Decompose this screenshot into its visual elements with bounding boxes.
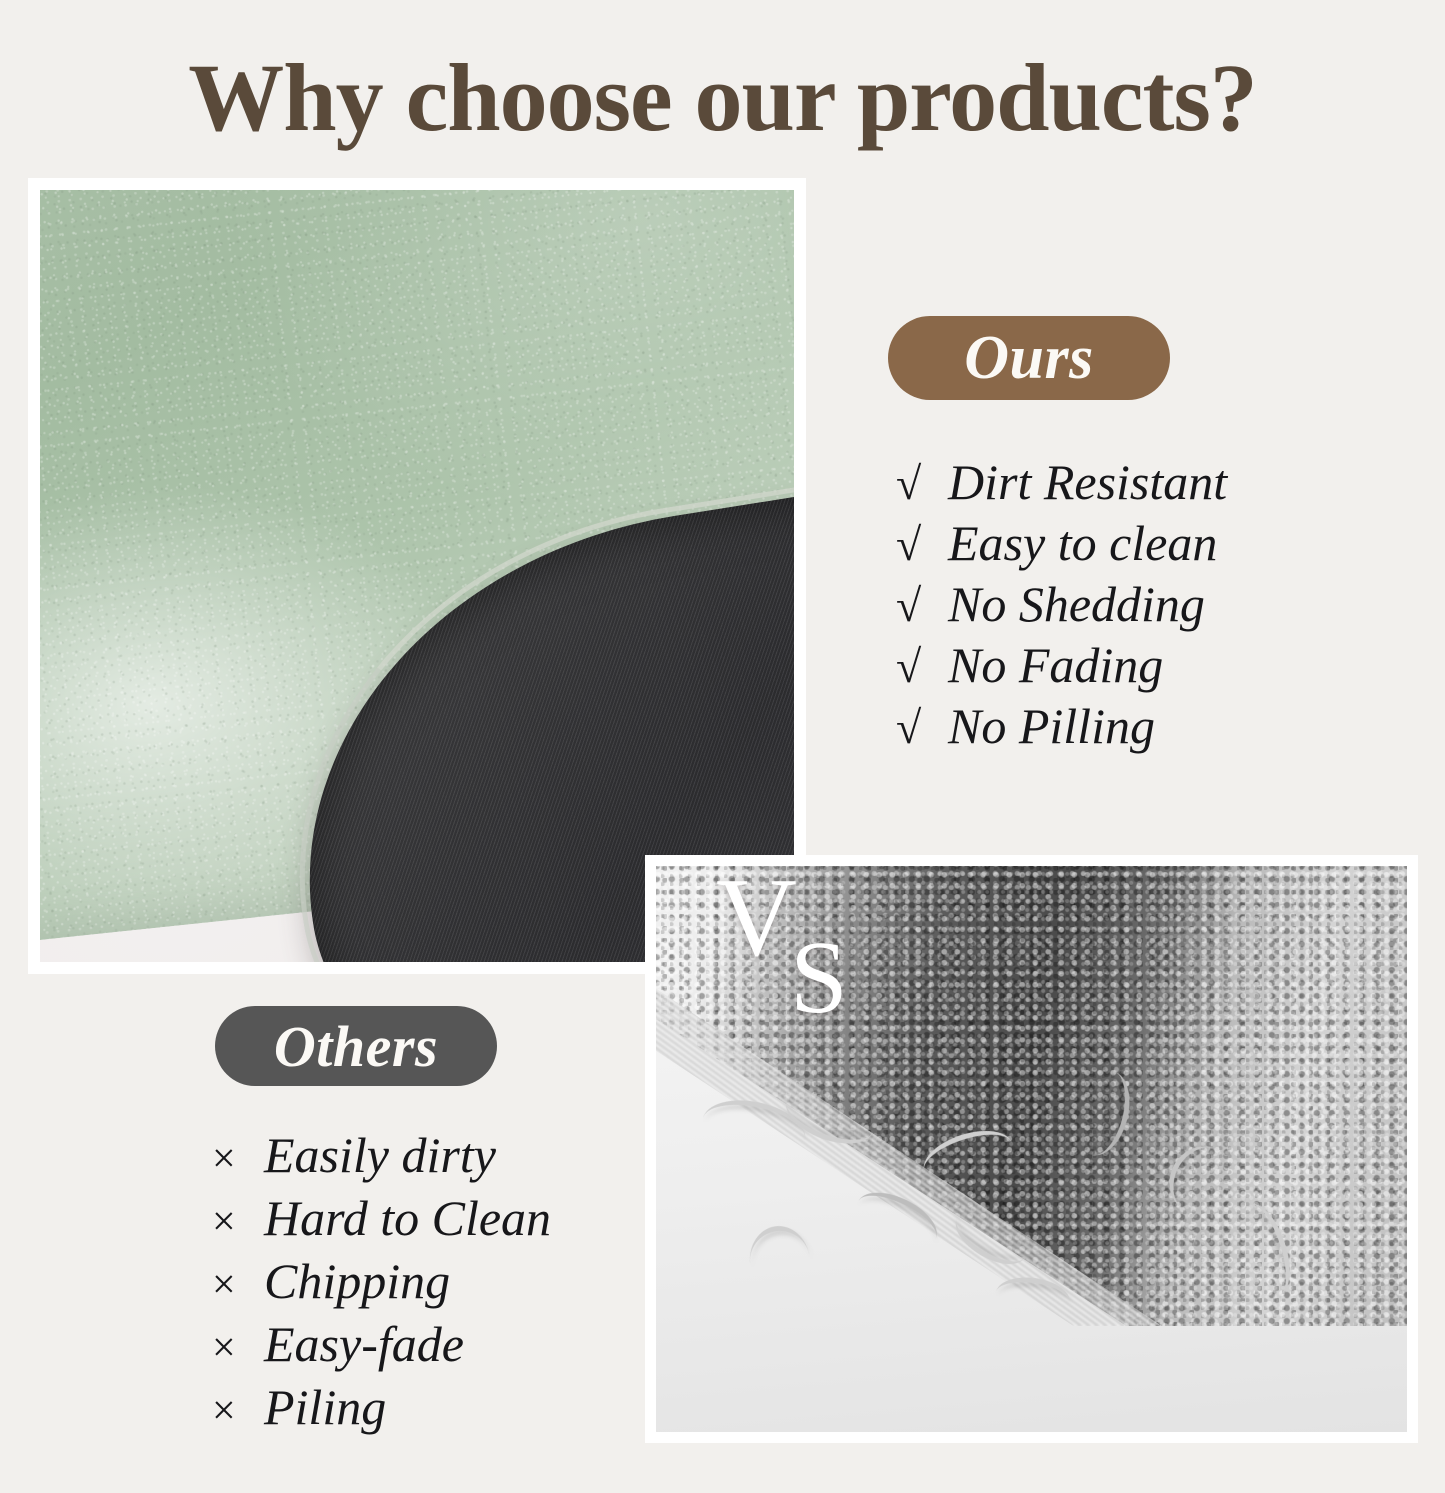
cross-icon: × [212,1133,264,1186]
others-feature-item: × Chipping [212,1250,551,1313]
others-feature-label: Hard to Clean [264,1187,551,1250]
ours-feature-list: √ Dirt Resistant √ Easy to clean √ No Sh… [896,452,1227,757]
ours-feature-item: √ No Pilling [896,696,1227,757]
ours-feature-label: No Fading [948,635,1163,696]
shed-thread [745,1222,814,1300]
ours-product-photo [40,190,794,962]
others-feature-item: × Hard to Clean [212,1187,551,1250]
others-feature-item: × Easily dirty [212,1124,551,1187]
cross-icon: × [212,1259,264,1312]
others-feature-item: × Piling [212,1376,551,1439]
others-badge-label: Others [274,1013,438,1080]
ours-feature-item: √ No Shedding [896,574,1227,635]
page-title: Why choose our products? [0,48,1445,149]
others-product-photo [656,866,1407,1432]
ours-feature-label: Dirt Resistant [948,452,1227,513]
others-product-photo-frame [645,855,1418,1443]
ours-feature-item: √ No Fading [896,635,1227,696]
check-icon: √ [896,578,948,634]
ours-badge-label: Ours [964,323,1094,394]
others-feature-list: × Easily dirty × Hard to Clean × Chippin… [212,1124,551,1439]
others-feature-item: × Easy-fade [212,1313,551,1376]
cross-icon: × [212,1322,264,1375]
ours-feature-label: No Shedding [948,574,1205,635]
cross-icon: × [212,1385,264,1438]
others-feature-label: Chipping [264,1250,450,1313]
check-icon: √ [896,639,948,695]
ours-badge: Ours [888,316,1170,400]
check-icon: √ [896,456,948,512]
cross-icon: × [212,1196,264,1249]
ours-feature-label: No Pilling [948,696,1155,757]
ours-feature-item: √ Easy to clean [896,513,1227,574]
check-icon: √ [896,700,948,756]
ours-feature-label: Easy to clean [948,513,1217,574]
others-feature-label: Easily dirty [264,1124,496,1187]
others-feature-label: Easy-fade [264,1313,464,1376]
others-badge: Others [215,1006,497,1086]
others-feature-label: Piling [264,1376,386,1439]
ours-feature-item: √ Dirt Resistant [896,452,1227,513]
check-icon: √ [896,517,948,573]
